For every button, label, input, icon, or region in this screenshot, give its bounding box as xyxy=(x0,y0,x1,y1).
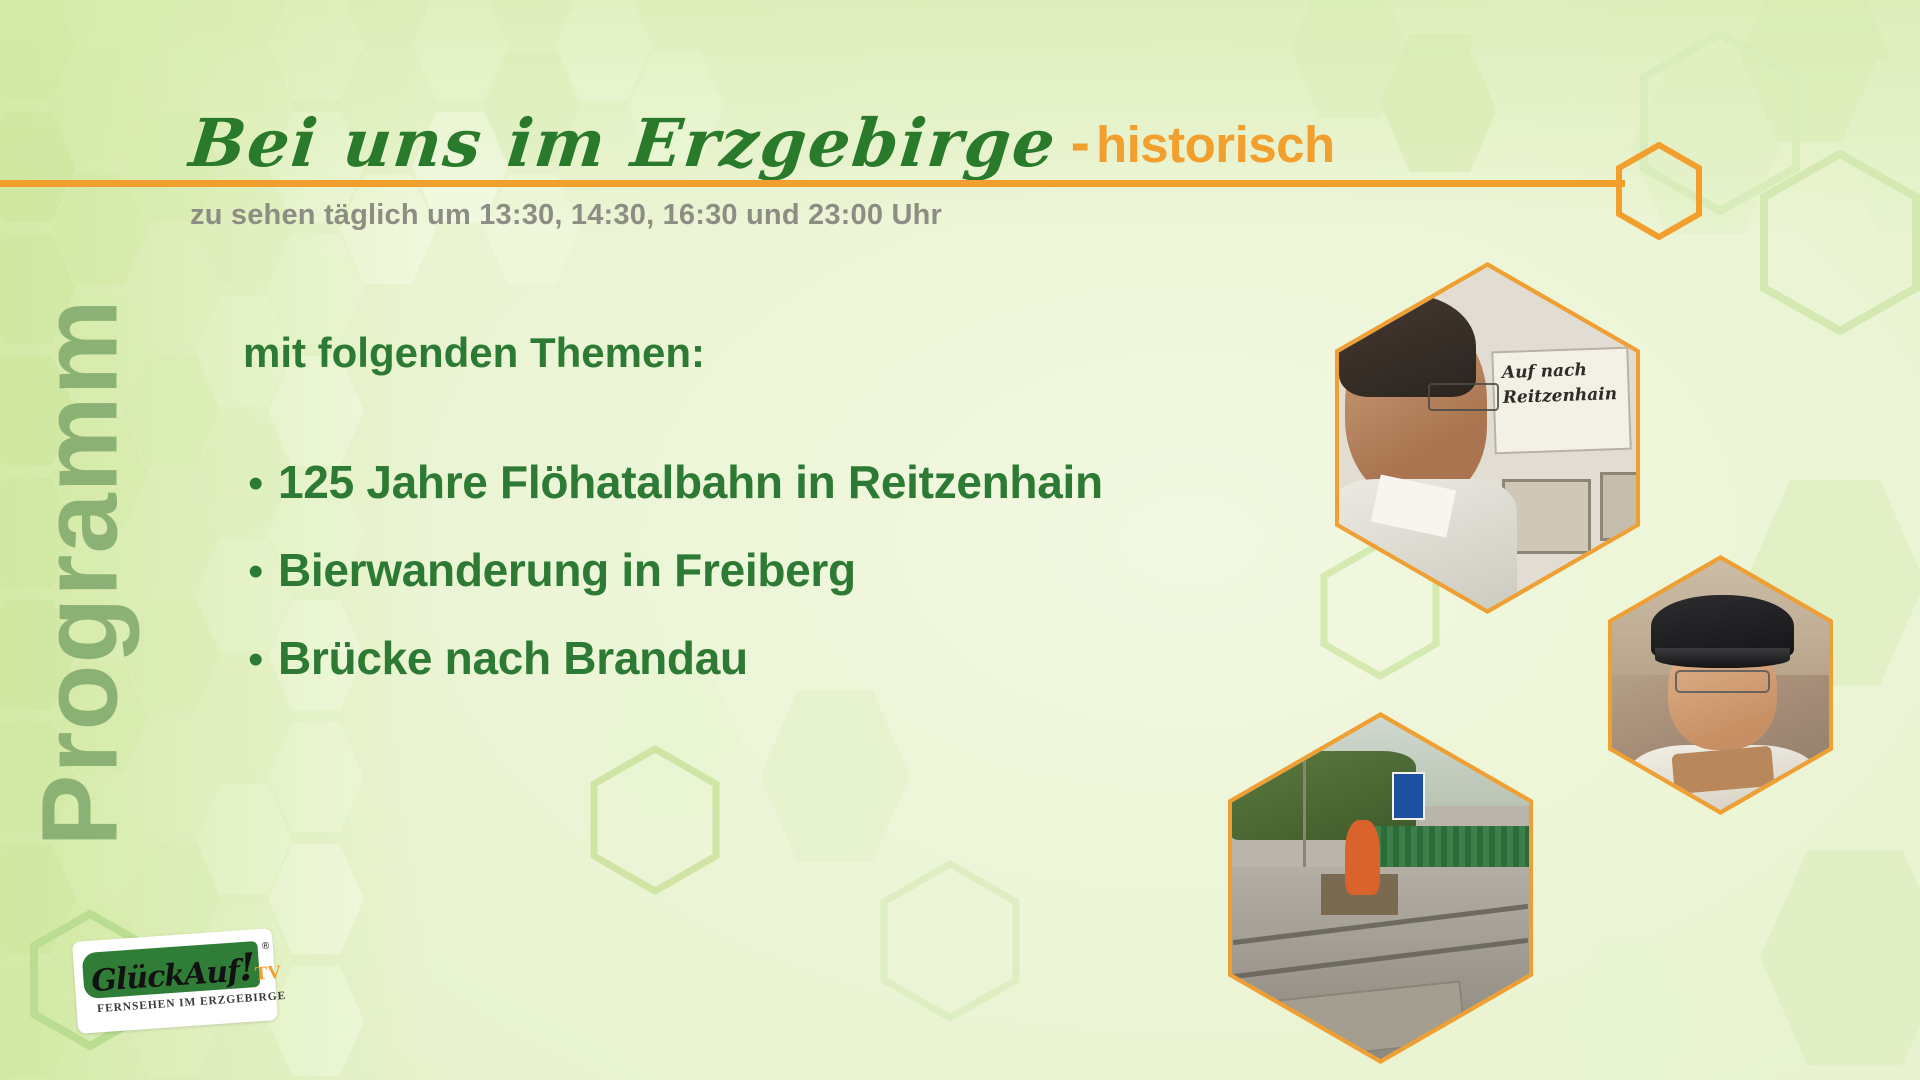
page-title-accent: historisch xyxy=(1096,115,1335,174)
list-item-label: Brücke nach Brandau xyxy=(278,631,748,685)
bullet-dot-icon: • xyxy=(248,462,278,506)
logo-word-auf: Auf xyxy=(183,954,240,993)
photo-man-cap xyxy=(1608,555,1833,815)
logo-exclamation: ! xyxy=(237,944,256,990)
photo-street-construction xyxy=(1228,712,1533,1064)
page-title-main: Bei uns im Erzgebirge xyxy=(186,104,1061,182)
sign-line-2: Reitzenhain xyxy=(1503,385,1618,409)
logo-registered-mark: ® xyxy=(261,941,269,952)
list-item: • 125 Jahre Flöhatalbahn in Reitzenhain xyxy=(248,455,1103,509)
sidebar-vertical-label: Programm xyxy=(17,298,142,846)
list-item: • Brücke nach Brandau xyxy=(248,631,1103,685)
divider-hexagon-icon xyxy=(1616,142,1702,245)
bullet-dot-icon: • xyxy=(248,638,278,682)
outline-hexagon-2 xyxy=(880,860,1020,1022)
logo-glueckauf-tv[interactable]: GlückAuf!TV ® FERNSEHEN IM ERZGEBIRGE xyxy=(75,935,275,1027)
broadcast-times-subtitle: zu sehen täglich um 13:30, 14:30, 16:30 … xyxy=(190,199,942,232)
bullet-dot-icon: • xyxy=(248,550,278,594)
list-item-label: 125 Jahre Flöhatalbahn in Reitzenhain xyxy=(278,455,1103,509)
sign-line-1: Auf nach xyxy=(1502,360,1588,383)
outline-hexagon-1 xyxy=(590,745,720,895)
topics-list: • 125 Jahre Flöhatalbahn in Reitzenhain … xyxy=(248,455,1103,719)
page-title-dash: - xyxy=(1057,109,1096,176)
page-title: Bei uns im Erzgebirge-historisch xyxy=(190,104,1335,182)
photo-man-sign: Auf nachReitzenhain xyxy=(1335,262,1640,614)
logo-word-glueck: Glück xyxy=(90,958,185,999)
list-item: • Bierwanderung in Freiberg xyxy=(248,543,1103,597)
list-item-label: Bierwanderung in Freiberg xyxy=(278,543,856,597)
logo-tv: TV xyxy=(254,962,282,985)
slide-canvas: Bei uns im Erzgebirge-historisch zu sehe… xyxy=(0,0,1920,1080)
sign-auf-nach-reitzenhain: Auf nachReitzenhain xyxy=(1492,347,1632,454)
themes-heading: mit folgenden Themen: xyxy=(243,329,705,377)
header: Bei uns im Erzgebirge-historisch zu sehe… xyxy=(0,0,1920,250)
header-divider-rule xyxy=(0,180,1625,187)
